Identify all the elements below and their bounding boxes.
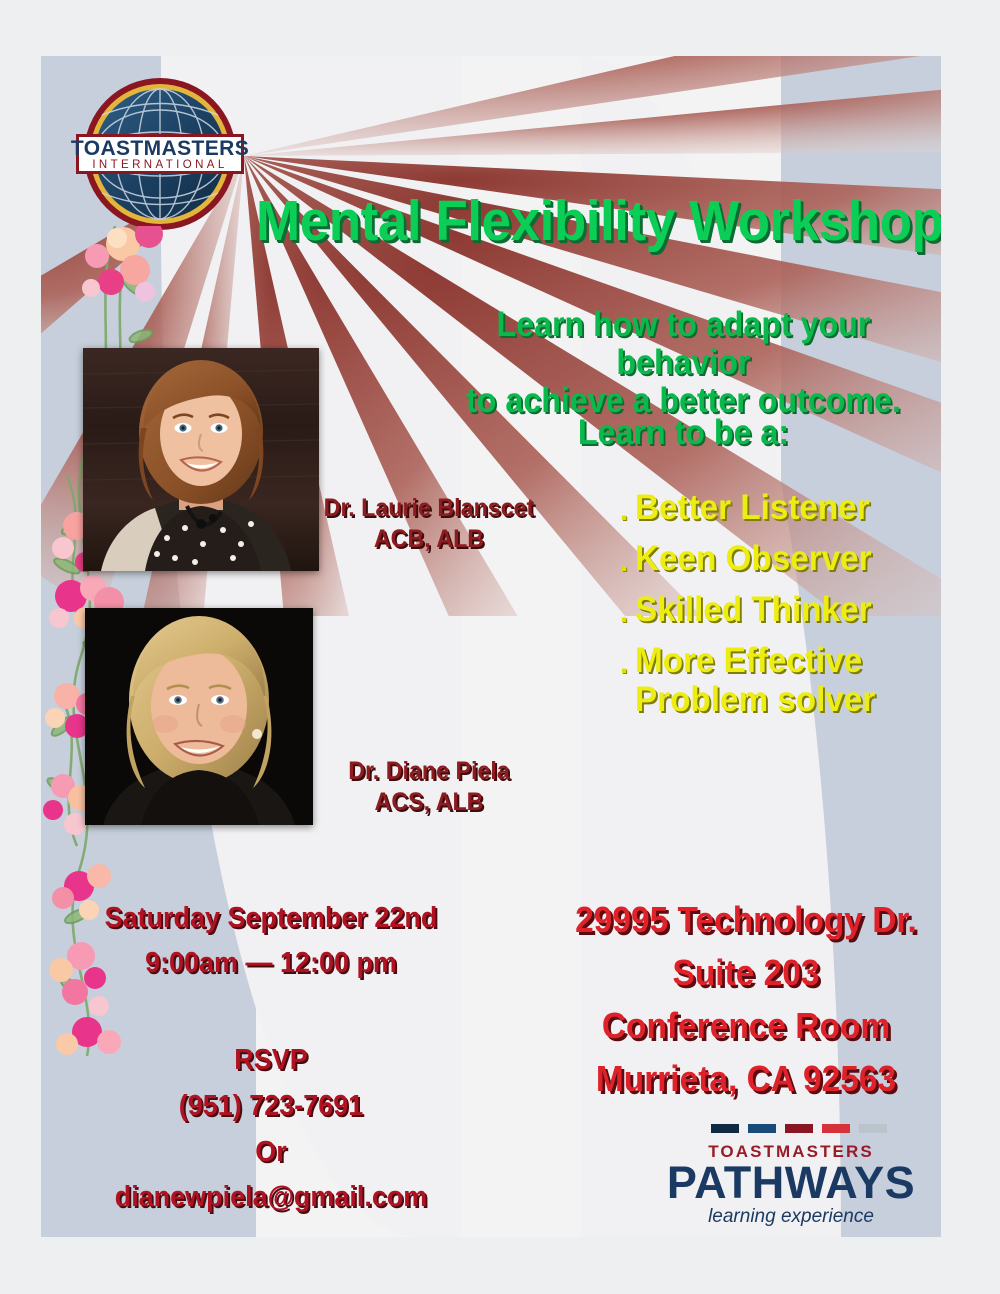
toastmasters-international-logo: TOASTMASTERS INTERNATIONAL — [62, 70, 258, 240]
address-line-2: Suite 203 — [565, 947, 928, 1000]
pathways-tagline: learning experience — [661, 1206, 921, 1228]
list-item: . More Effective Problem solver — [613, 641, 941, 719]
pathways-bar-4 — [822, 1124, 850, 1133]
speaker-caption-diane: Dr. Diane Piela ACS, ALB — [308, 756, 550, 819]
rsvp-email[interactable]: dianewpiela@gmail.com — [90, 1175, 453, 1221]
list-item-label: Better Listener — [635, 488, 928, 527]
pathways-bar-5 — [859, 1124, 887, 1133]
headshot-laurie-blanscet — [83, 348, 319, 571]
rsvp-heading: RSVP — [90, 1038, 453, 1084]
rsvp-separator: Or — [90, 1130, 453, 1176]
toastmasters-wordmark: TOASTMASTERS — [71, 137, 249, 160]
speaker-caption-laurie: Dr. Laurie Blanscet ACB, ALB — [308, 493, 550, 556]
event-date: Saturday September 22nd — [90, 896, 453, 941]
list-item: . Skilled Thinker — [613, 590, 941, 636]
speaker-name: Dr. Diane Piela — [308, 756, 550, 787]
speaker-credentials: ACB, ALB — [308, 524, 550, 555]
pathways-bar-3 — [785, 1124, 813, 1133]
international-wordmark: INTERNATIONAL — [92, 159, 227, 171]
list-item-label: More Effective Problem solver — [635, 641, 928, 719]
learn-to-be-heading: Learn to be a: — [447, 413, 921, 453]
toastmasters-pathways-logo: TOASTMASTERS PATHWAYS learning experienc… — [661, 1124, 921, 1234]
address-line-1: 29995 Technology Dr. — [565, 894, 928, 947]
bullet-dot-icon: . — [613, 488, 635, 534]
event-time: 9:00am — 12:00 pm — [90, 941, 453, 986]
flyer-poster: TOASTMASTERS INTERNATIONAL — [41, 56, 941, 1237]
subtitle: Learn how to adapt your behavior to achi… — [447, 306, 921, 419]
list-item-label: Keen Observer — [635, 539, 928, 578]
pathways-bar-1 — [711, 1124, 739, 1133]
event-datetime: Saturday September 22nd 9:00am — 12:00 p… — [90, 896, 453, 986]
speaker-name: Dr. Laurie Blanscet — [308, 493, 550, 524]
rsvp-section: RSVP (951) 723-7691 Or dianewpiela@gmail… — [90, 1038, 453, 1221]
bullet-dot-icon: . — [613, 590, 635, 636]
pathways-bar-2 — [748, 1124, 776, 1133]
list-item: . Keen Observer — [613, 539, 941, 585]
list-item: . Better Listener — [613, 488, 941, 534]
rsvp-phone[interactable]: (951) 723-7691 — [90, 1084, 453, 1130]
bullet-dot-icon: . — [613, 641, 635, 687]
pathways-word: PATHWAYS — [661, 1161, 921, 1205]
benefits-list: . Better Listener . Keen Observer . Skil… — [613, 488, 941, 724]
flower-cluster — [82, 226, 163, 302]
headshot-diane-piela — [85, 608, 313, 825]
venue-address: 29995 Technology Dr. Suite 203 Conferenc… — [565, 894, 928, 1106]
subtitle-line-1: Learn how to adapt your behavior — [447, 306, 921, 382]
speaker-credentials: ACS, ALB — [308, 787, 550, 818]
bullet-dot-icon: . — [613, 539, 635, 585]
pathways-color-bars — [711, 1124, 921, 1133]
address-line-4: Murrieta, CA 92563 — [565, 1053, 928, 1106]
page-title: Mental Flexibility Workshop — [256, 193, 893, 250]
list-item-label: Skilled Thinker — [635, 590, 928, 629]
address-line-3: Conference Room — [565, 1000, 928, 1053]
